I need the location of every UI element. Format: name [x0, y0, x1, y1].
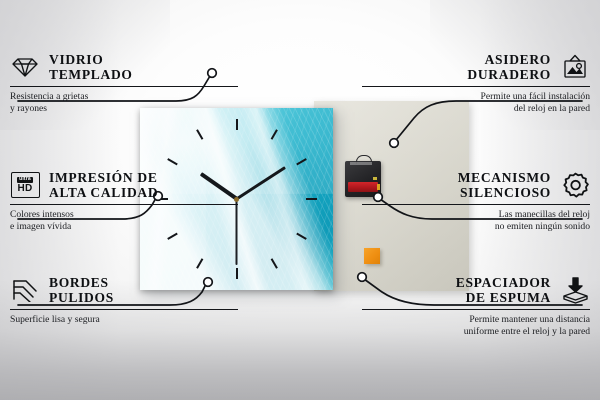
feature-subtitle: Las manecillas del reloj no emiten ningú… — [362, 209, 590, 232]
feature-asidero-duradero: ASIDERO DURADERO Permite una fácil insta… — [362, 52, 590, 114]
picture-hanger-icon — [560, 52, 590, 82]
feature-divider — [362, 204, 590, 205]
feature-header: MECANISMO SILENCIOSO — [362, 170, 590, 200]
connector-dot-asidero — [390, 139, 399, 148]
feature-divider — [10, 204, 238, 205]
feature-subtitle: Permite una fácil instalación del reloj … — [362, 91, 590, 114]
feature-impresion-alta-calidad: ultra HD IMPRESIÓN DE ALTA CALIDAD Color… — [10, 170, 238, 232]
infographic-canvas: VIDRIO TEMPLADO Resistencia a grietas y … — [0, 0, 600, 400]
feature-title: MECANISMO SILENCIOSO — [458, 170, 551, 200]
hd-badge-top-label: ultra — [17, 177, 33, 183]
feature-subtitle: Superficie lisa y segura — [10, 314, 238, 325]
feature-bordes-pulidos: BORDES PULIDOS Superficie lisa y segura — [10, 275, 238, 326]
feature-divider — [10, 86, 238, 87]
press-down-layer-icon — [560, 275, 590, 305]
feature-divider — [10, 309, 238, 310]
feature-title: ESPACIADOR DE ESPUMA — [456, 275, 551, 305]
feature-subtitle: Colores intensos e imagen vívida — [10, 209, 238, 232]
feature-subtitle: Resistencia a grietas y rayones — [10, 91, 238, 114]
feature-header: BORDES PULIDOS — [10, 275, 238, 305]
feature-title: VIDRIO TEMPLADO — [49, 52, 133, 82]
feature-header: ESPACIADOR DE ESPUMA — [362, 275, 590, 305]
feature-title: ASIDERO DURADERO — [467, 52, 551, 82]
feature-vidrio-templado: VIDRIO TEMPLADO Resistencia a grietas y … — [10, 52, 238, 114]
feature-divider — [362, 86, 590, 87]
feature-header: VIDRIO TEMPLADO — [10, 52, 238, 82]
feature-header: ASIDERO DURADERO — [362, 52, 590, 82]
feature-subtitle: Permite mantener una distancia uniforme … — [362, 314, 590, 337]
feature-header: ultra HD IMPRESIÓN DE ALTA CALIDAD — [10, 170, 238, 200]
ultra-hd-icon: ultra HD — [10, 170, 40, 200]
hd-badge: ultra HD — [11, 172, 40, 198]
gear-icon — [560, 170, 590, 200]
feature-title: IMPRESIÓN DE ALTA CALIDAD — [49, 170, 158, 200]
polished-edges-icon — [10, 275, 40, 305]
diamond-icon — [10, 52, 40, 82]
feature-divider — [362, 309, 590, 310]
feature-title: BORDES PULIDOS — [49, 275, 114, 305]
feature-espaciador-de-espuma: ESPACIADOR DE ESPUMA Permite mantener un… — [362, 275, 590, 337]
feature-mecanismo-silencioso: MECANISMO SILENCIOSO Las manecillas del … — [362, 170, 590, 232]
hd-badge-main-label: HD — [17, 184, 32, 194]
